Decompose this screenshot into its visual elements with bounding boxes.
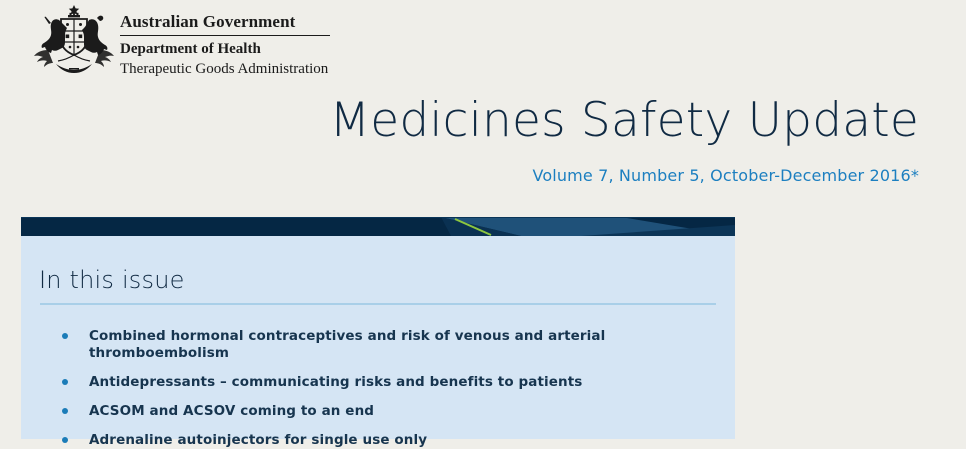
tga-label: Therapeutic Goods Administration xyxy=(120,59,420,79)
list-item[interactable]: Antidepressants – communicating risks an… xyxy=(21,374,735,391)
department-of-health-label: Department of Health xyxy=(120,40,420,59)
in-this-issue-panel: In this issue Combined hormonal contrace… xyxy=(21,217,735,439)
panel-decorative-banner xyxy=(21,217,735,236)
bullet-dot xyxy=(62,437,68,443)
government-wordmark: Australian Government Department of Heal… xyxy=(120,12,420,79)
list-item[interactable]: Combined hormonal contraceptives and ris… xyxy=(21,328,735,362)
list-item-label: Adrenaline autoinjectors for single use … xyxy=(89,432,427,448)
list-item-label: ACSOM and ACSOV coming to an end xyxy=(89,403,374,419)
page-title: Medicines Safety Update xyxy=(159,92,919,150)
list-item-label: Combined hormonal contraceptives and ris… xyxy=(89,328,605,361)
bullet-dot xyxy=(62,379,68,385)
bullet-dot xyxy=(62,333,68,339)
volume-issue-line: Volume 7, Number 5, October-December 201… xyxy=(159,166,919,185)
title-block: Medicines Safety Update Volume 7, Number… xyxy=(159,92,919,185)
panel-heading-divider xyxy=(40,303,716,305)
wordmark-divider xyxy=(120,35,330,36)
list-item[interactable]: Adrenaline autoinjectors for single use … xyxy=(21,432,735,449)
australian-government-label: Australian Government xyxy=(120,12,420,32)
australian-coat-of-arms-icon xyxy=(26,4,122,78)
list-item[interactable]: ACSOM and ACSOV coming to an end xyxy=(21,403,735,420)
masthead: Australian Government Department of Heal… xyxy=(0,0,966,90)
panel-heading: In this issue xyxy=(39,266,735,294)
list-item-label: Antidepressants – communicating risks an… xyxy=(89,374,582,390)
issue-contents-list: Combined hormonal contraceptives and ris… xyxy=(21,328,735,449)
bullet-dot xyxy=(62,408,68,414)
